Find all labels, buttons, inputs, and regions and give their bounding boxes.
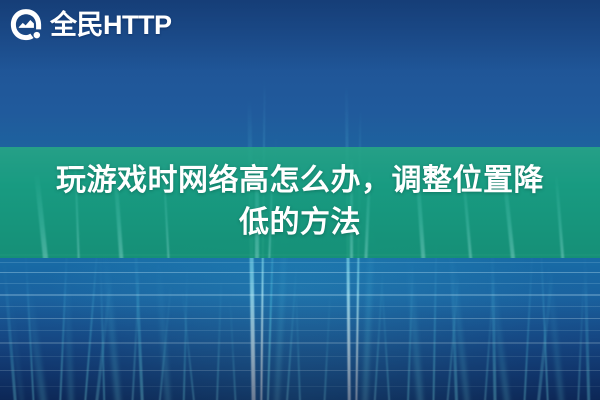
page-title-line-2: 低的方法 [18,202,582,244]
page-title-line-1: 玩游戏时网络高怎么办，调整位置降 [18,160,582,202]
page-title: 玩游戏时网络高怎么办，调整位置降 低的方法 [0,160,600,244]
brand-header[interactable]: 全民HTTP [8,7,172,43]
quanmin-http-logo-icon[interactable] [8,7,44,43]
brand-wordmark: 全民HTTP [50,12,172,39]
banner-canvas: 全民HTTP 玩游戏时网络高怎么办，调整位置降 低的方法 [0,0,600,400]
